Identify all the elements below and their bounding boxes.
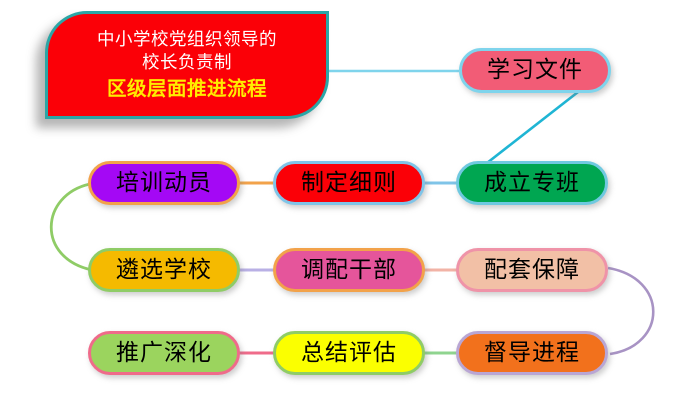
node-label: 督导进程 [484, 342, 580, 365]
title-line-2: 校长负责制 [142, 52, 232, 75]
connector-support-to-supervise [608, 268, 653, 354]
node-training[interactable]: 培训动员 [88, 161, 240, 205]
node-label: 配套保障 [484, 259, 580, 282]
node-rules[interactable]: 制定细则 [273, 161, 425, 205]
node-evaluate[interactable]: 总结评估 [273, 331, 425, 375]
node-task-force[interactable]: 成立专班 [456, 161, 608, 205]
diagram-title-box: 中小学校党组织领导的 校长负责制 区级层面推进流程 [45, 11, 329, 119]
title-line-1: 中小学校党组织领导的 [97, 29, 277, 52]
node-supervise[interactable]: 督导进程 [456, 331, 608, 375]
node-support[interactable]: 配套保障 [456, 248, 608, 292]
node-label: 制定细则 [301, 172, 397, 195]
title-line-3: 区级层面推进流程 [107, 75, 267, 102]
diagram-canvas: 中小学校党组织领导的 校长负责制 区级层面推进流程 学习文件 培训动员 制定细则… [0, 0, 676, 408]
node-staffing[interactable]: 调配干部 [273, 248, 425, 292]
node-label: 遴选学校 [116, 259, 212, 282]
node-label: 调配干部 [301, 259, 397, 282]
node-select-schools[interactable]: 遴选学校 [88, 248, 240, 292]
connector-training-to-select [51, 184, 92, 270]
node-scale-up[interactable]: 推广深化 [88, 331, 240, 375]
node-label: 成立专班 [484, 172, 580, 195]
connector-study-to-taskforce [487, 92, 578, 163]
node-label: 学习文件 [487, 59, 583, 82]
node-label: 总结评估 [301, 342, 397, 365]
node-label: 推广深化 [116, 342, 212, 365]
node-label: 培训动员 [116, 172, 212, 195]
node-study-docs[interactable]: 学习文件 [459, 48, 611, 93]
